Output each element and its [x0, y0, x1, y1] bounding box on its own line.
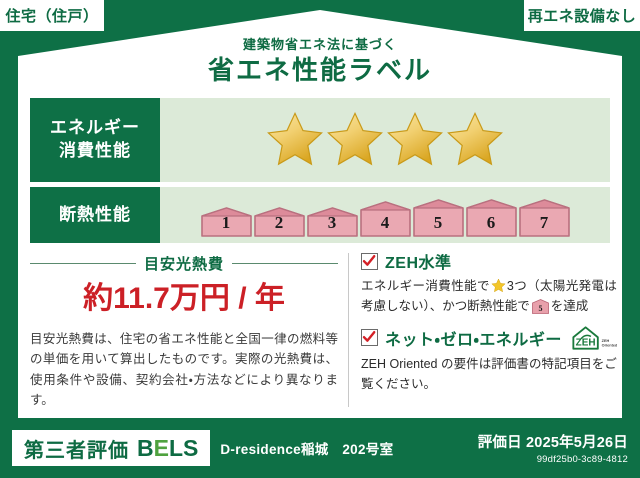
insulation-level-5-chip-icon: 5 [532, 299, 549, 314]
bels-badge-jp-label: 第三者評価 [24, 434, 129, 463]
svg-text:Oriented: Oriented [602, 343, 617, 347]
utility-cost-heading: 目安光熱費 [30, 253, 338, 274]
heading-rule-right [232, 263, 338, 264]
insulation-level-chip: 7 [519, 199, 570, 237]
energy-performance-label: 住宅（住戸） 再エネ設備なし 建築物省エネ法に基づく 省エネ性能ラベル エネルギ… [0, 0, 640, 478]
insulation-performance-label: 断熱性能 [59, 204, 131, 227]
zeh-body-part1: エネルギー消費性能で [361, 279, 490, 293]
insulation-level-chip: 2 [254, 207, 305, 237]
net-zero-energy-header: ネット・ゼロ・エネルギー ZEH ZEH Oriented [361, 325, 617, 351]
energy-star-rating [160, 98, 610, 182]
zeh-standard-body: エネルギー消費性能で3つ（太陽光発電は考慮しない）、かつ断熱性能で5を達成 [361, 276, 617, 317]
svg-text:ZEH: ZEH [602, 338, 610, 342]
insulation-performance-row: 断熱性能 1234567 [30, 187, 610, 243]
certification-column: ZEH水準 エネルギー消費性能で3つ（太陽光発電は考慮しない）、かつ断熱性能で5… [361, 249, 617, 417]
insulation-level-number: 7 [519, 213, 570, 233]
zeh-body-part3: を達成 [551, 299, 589, 313]
building-type-tag: 住宅（住戸） [0, 0, 104, 31]
renewable-equipment-tag-label: 再エネ設備なし [528, 5, 637, 26]
zeh-standard-header: ZEH水準 [361, 249, 617, 273]
evaluation-info: 評価日 2025年5月26日 99df25b0-3c89-4812 [478, 431, 628, 465]
utility-cost-column: 目安光熱費 約11.7万円 / 年 目安光熱費は、住宅の省エネ性能と全国一律の燃… [30, 249, 348, 417]
insulation-level-chip: 6 [466, 199, 517, 237]
lower-section: 目安光熱費 約11.7万円 / 年 目安光熱費は、住宅の省エネ性能と全国一律の燃… [30, 249, 610, 417]
energy-performance-label-line1: エネルギー [50, 117, 140, 140]
energy-performance-row: エネルギー 消費性能 [30, 98, 610, 182]
insulation-level-number: 3 [307, 213, 358, 233]
zeh-standard-item: ZEH水準 エネルギー消費性能で3つ（太陽光発電は考慮しない）、かつ断熱性能で5… [361, 249, 617, 317]
bels-letter-e: E [154, 435, 169, 461]
insulation-performance-label-box: 断熱性能 [30, 187, 160, 243]
checkbox-checked-icon-2 [361, 329, 378, 346]
insulation-level-chip: 4 [360, 201, 411, 237]
building-type-tag-label: 住宅（住戸） [5, 5, 98, 26]
svg-text:ZEH: ZEH [576, 337, 596, 348]
label-body: エネルギー 消費性能 断熱性能 1234567 目安光熱費 約11. [18, 88, 622, 418]
star-icon [446, 110, 504, 168]
utility-cost-heading-label: 目安光熱費 [144, 253, 224, 274]
net-zero-energy-item: ネット・ゼロ・エネルギー ZEH ZEH Oriented ZEH Orient… [361, 325, 617, 395]
star-icon [266, 110, 324, 168]
energy-performance-label-line2: 消費性能 [50, 140, 140, 163]
insulation-level-chip: 5 [413, 199, 464, 237]
star-icon [491, 278, 506, 293]
bels-badge-en-label: BELS [137, 435, 198, 462]
star-icon [386, 110, 444, 168]
energy-performance-label-box: エネルギー 消費性能 [30, 98, 160, 182]
star-icon [326, 110, 384, 168]
evaluation-id: 99df25b0-3c89-4812 [478, 454, 628, 465]
net-zero-energy-body: ZEH Oriented の要件は評価書の特記項目をご覧ください。 [361, 354, 617, 395]
label-footer: 第三者評価 BELS D-residence稲城 202号室 評価日 2025年… [0, 418, 640, 478]
insulation-level-chip: 3 [307, 207, 358, 237]
heading-rule-left [30, 263, 136, 264]
bels-badge: 第三者評価 BELS [12, 430, 210, 466]
svg-text:5: 5 [538, 304, 542, 313]
zeh-logo-icon: ZEH ZEH Oriented [571, 325, 617, 351]
zeh-standard-title: ZEH水準 [385, 249, 452, 273]
utility-cost-amount: 約11.7万円 / 年 [30, 282, 338, 315]
bels-letter-b: B [137, 435, 154, 461]
property-name: D-residence稲城 202号室 [220, 438, 393, 458]
column-divider [348, 253, 349, 407]
renewable-equipment-tag: 再エネ設備なし [524, 0, 640, 31]
insulation-level-number: 5 [413, 213, 464, 233]
insulation-level-scale: 1234567 [160, 187, 610, 243]
insulation-level-number: 2 [254, 213, 305, 233]
evaluation-date: 評価日 2025年5月26日 [478, 431, 628, 452]
checkbox-checked-icon [361, 253, 378, 270]
insulation-level-chip: 1 [201, 207, 252, 237]
insulation-level-number: 4 [360, 213, 411, 233]
bels-letter-ls: LS [169, 435, 198, 461]
insulation-level-number: 6 [466, 213, 517, 233]
utility-cost-note: 目安光熱費は、住宅の省エネ性能と全国一律の燃料等の単価を用いて算出したものです。… [30, 329, 338, 410]
insulation-level-number: 1 [201, 213, 252, 233]
net-zero-energy-title: ネット・ゼロ・エネルギー [385, 326, 562, 350]
